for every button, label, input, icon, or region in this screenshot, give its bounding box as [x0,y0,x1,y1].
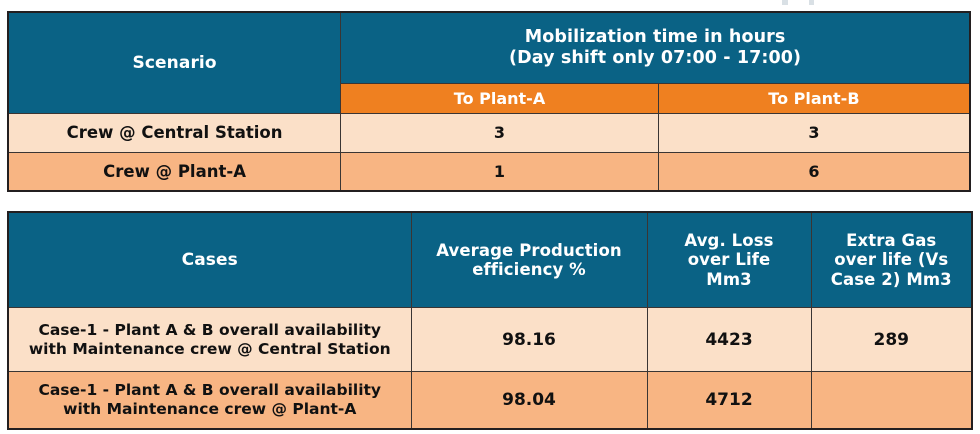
header-scenario: Scenario [8,12,341,113]
cases-header-row: Cases Average Production efficiency % Av… [8,212,972,308]
case-1-central-line2: with Maintenance crew @ Central Station [9,340,411,358]
table-row: Crew @ Central Station 3 3 [8,113,970,152]
cases-comparison-table: Cases Average Production efficiency % Av… [7,211,973,430]
slide-canvas: Scenario Mobilization time in hours (Day… [0,0,980,434]
header-efficiency-line2: efficiency % [412,260,647,279]
header-loss-line3: Mm3 [648,270,811,289]
header-mobilization-line2: (Day shift only 07:00 - 17:00) [341,48,969,69]
cell-scenario-central-station: Crew @ Central Station [8,113,341,152]
header-loss-line1: Avg. Loss [648,231,811,250]
header-extra-line2: over life (Vs [812,250,972,269]
header-mobilization-line1: Mobilization time in hours [341,27,969,48]
mobilization-time-table: Scenario Mobilization time in hours (Day… [7,11,971,192]
cell-extra-gas-central-station: 289 [811,308,972,372]
cell-central-station-to-plant-a: 3 [341,113,659,152]
cell-central-station-to-plant-b: 3 [658,113,970,152]
header-efficiency-line1: Average Production [412,241,647,260]
cell-avg-loss-plant-a: 4712 [647,372,811,429]
top-crop-artifact-right [809,0,814,5]
header-average-production-efficiency: Average Production efficiency % [411,212,647,308]
mobilization-header-row-1: Scenario Mobilization time in hours (Day… [8,12,970,83]
cell-efficiency-plant-a: 98.04 [411,372,647,429]
cell-scenario-plant-a: Crew @ Plant-A [8,152,341,191]
case-1-plant-a-line1: Case-1 - Plant A & B overall availabilit… [9,381,411,399]
header-to-plant-b: To Plant-B [658,83,970,113]
top-crop-artifact-left [782,0,788,5]
cell-case-1-plant-a: Case-1 - Plant A & B overall availabilit… [8,372,411,429]
header-mobilization-group: Mobilization time in hours (Day shift on… [341,12,970,83]
header-extra-gas-over-life: Extra Gas over life (Vs Case 2) Mm3 [811,212,972,308]
header-extra-line1: Extra Gas [812,231,972,250]
case-1-central-line1: Case-1 - Plant A & B overall availabilit… [9,321,411,339]
cell-plant-a-to-plant-a: 1 [341,152,659,191]
cell-plant-a-to-plant-b: 6 [658,152,970,191]
cell-extra-gas-plant-a [811,372,972,429]
table-row: Crew @ Plant-A 1 6 [8,152,970,191]
cell-avg-loss-central-station: 4423 [647,308,811,372]
cell-case-1-central-station: Case-1 - Plant A & B overall availabilit… [8,308,411,372]
header-avg-loss-over-life: Avg. Loss over Life Mm3 [647,212,811,308]
table-row: Case-1 - Plant A & B overall availabilit… [8,308,972,372]
table-row: Case-1 - Plant A & B overall availabilit… [8,372,972,429]
case-1-plant-a-line2: with Maintenance crew @ Plant-A [9,400,411,418]
header-cases: Cases [8,212,411,308]
header-loss-line2: over Life [648,250,811,269]
cell-efficiency-central-station: 98.16 [411,308,647,372]
header-to-plant-a: To Plant-A [341,83,659,113]
header-extra-line3: Case 2) Mm3 [812,270,972,289]
